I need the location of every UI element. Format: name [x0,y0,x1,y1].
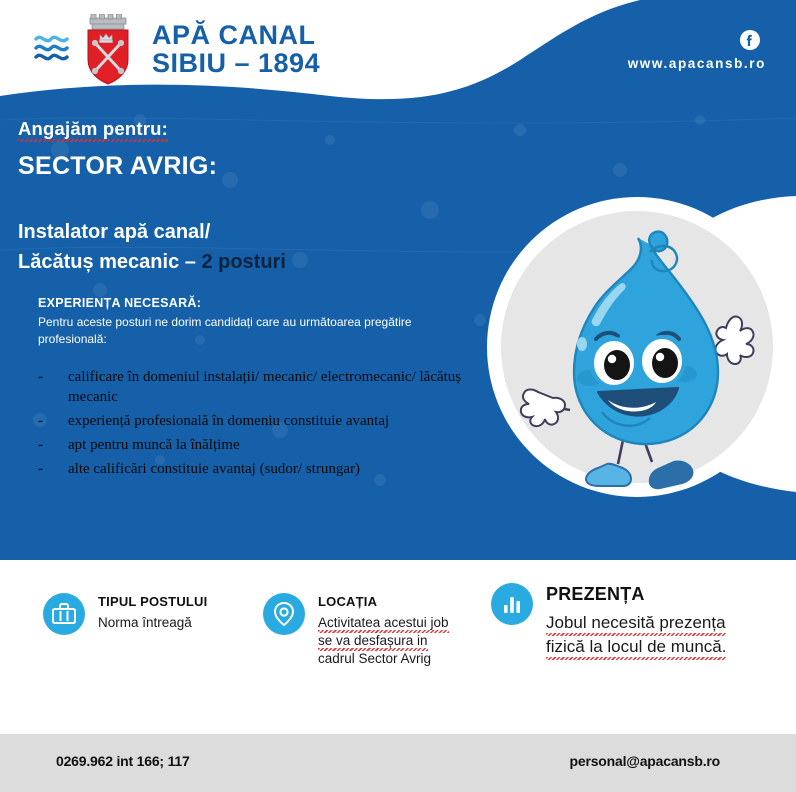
job-poster: APĂ CANAL SIBIU – 1894 www.apacansb.ro A… [0,0,796,792]
info-body-line: Norma întreagă [98,614,207,632]
experience-title: EXPERIENȚA NECESARĂ: [38,296,468,310]
requirement-text: alte calificări constituie avantaj (sudo… [68,459,468,480]
bullet-marker: - [38,411,68,432]
hiring-label-text: Angajăm pentru: [18,118,168,140]
hiring-label: Angajăm pentru: [18,118,168,140]
sector-title: SECTOR AVRIG: [18,152,286,181]
info-body-line-text: Activitatea acestui job [318,614,449,632]
info-body: Jobul necesită prezența fizică la locul … [546,611,726,659]
requirement-text: calificare în domeniul instalații/ mecan… [68,367,468,408]
job-title-line-2-prefix: Lăcătuș mecanic – [18,251,201,273]
poster-footer: 0269.962 int 166; 117 personal@apacansb.… [0,734,796,792]
info-block-location: LOCAȚIA Activitatea acestui job se va de… [262,592,449,669]
experience-subtitle: Pentru aceste posturi ne dorim candidați… [38,314,468,349]
website-url[interactable]: www.apacansb.ro [628,56,766,71]
info-title: PREZENȚA [546,584,726,605]
headline-block: Angajăm pentru: SECTOR AVRIG: Instalator… [18,118,286,277]
info-body-line: Activitatea acestui job [318,614,449,632]
brand-line-1: APĂ CANAL [152,22,320,50]
brand-line-2: SIBIU – 1894 [152,50,320,78]
info-body-line-text: Jobul necesită prezența [546,611,726,635]
info-text: LOCAȚIA Activitatea acestui job se va de… [318,592,449,669]
info-body-line: Jobul necesită prezența [546,611,726,635]
info-title: TIPUL POSTULUI [98,594,207,609]
info-body-line: fizică la locul de muncă. [546,635,726,659]
info-text: PREZENȚA Jobul necesită prezența fizică … [546,582,726,659]
job-title-line-2: Lăcătuș mecanic – 2 posturi [18,247,286,277]
info-text: TIPUL POSTULUI Norma întreagă [98,592,207,636]
briefcase-icon [42,592,86,636]
poster-header: APĂ CANAL SIBIU – 1894 [0,0,796,100]
info-body: Norma întreagă [98,614,207,632]
job-title: Instalator apă canal/ Lăcătuș mecanic – … [18,217,286,277]
info-title: LOCAȚIA [318,594,449,609]
info-body: Activitatea acestui job se va desfașura … [318,614,449,669]
requirements-list: - calificare în domeniul instalații/ mec… [38,367,468,479]
water-wave-icon [34,29,74,71]
list-item: - calificare în domeniul instalații/ mec… [38,367,468,408]
bullet-marker: - [38,367,68,408]
job-positions-count: 2 posturi [201,251,285,273]
info-body-line-text: fizică la locul de muncă. [546,635,726,659]
facebook-icon[interactable] [740,30,760,50]
requirement-text: apt pentru muncă la înălțime [68,435,468,456]
bar-chart-icon [490,582,534,626]
location-pin-icon [262,592,306,636]
list-item: - apt pentru muncă la înălțime [38,435,468,456]
info-block-presence: PREZENȚA Jobul necesită prezența fizică … [490,582,726,659]
brand-wordmark: APĂ CANAL SIBIU – 1894 [152,22,320,77]
list-item: - experiență profesională în domeniu con… [38,411,468,432]
brand-logo: APĂ CANAL SIBIU – 1894 [34,14,320,86]
bullet-marker: - [38,459,68,480]
info-row: TIPUL POSTULUI Norma întreagă LOCAȚIA Ac… [0,578,796,698]
contact-phone[interactable]: 0269.962 int 166; 117 [56,753,190,769]
list-item: - alte calificări constituie avantaj (su… [38,459,468,480]
info-body-line: cadrul Sector Avrig [318,650,449,668]
sibiu-coat-of-arms-icon [80,14,136,86]
info-body-line-text: se va desfașura in [318,632,428,650]
experience-block: EXPERIENȚA NECESARĂ: Pentru aceste postu… [38,296,468,482]
water-drop-mascot-icon [486,196,788,498]
info-body-line: se va desfașura in [318,632,449,650]
info-block-job-type: TIPUL POSTULUI Norma întreagă [42,592,207,636]
job-title-line-1: Instalator apă canal/ [18,217,286,247]
bullet-marker: - [38,435,68,456]
requirement-text: experiență profesională în domeniu const… [68,411,468,432]
contact-email[interactable]: personal@apacansb.ro [570,753,720,769]
